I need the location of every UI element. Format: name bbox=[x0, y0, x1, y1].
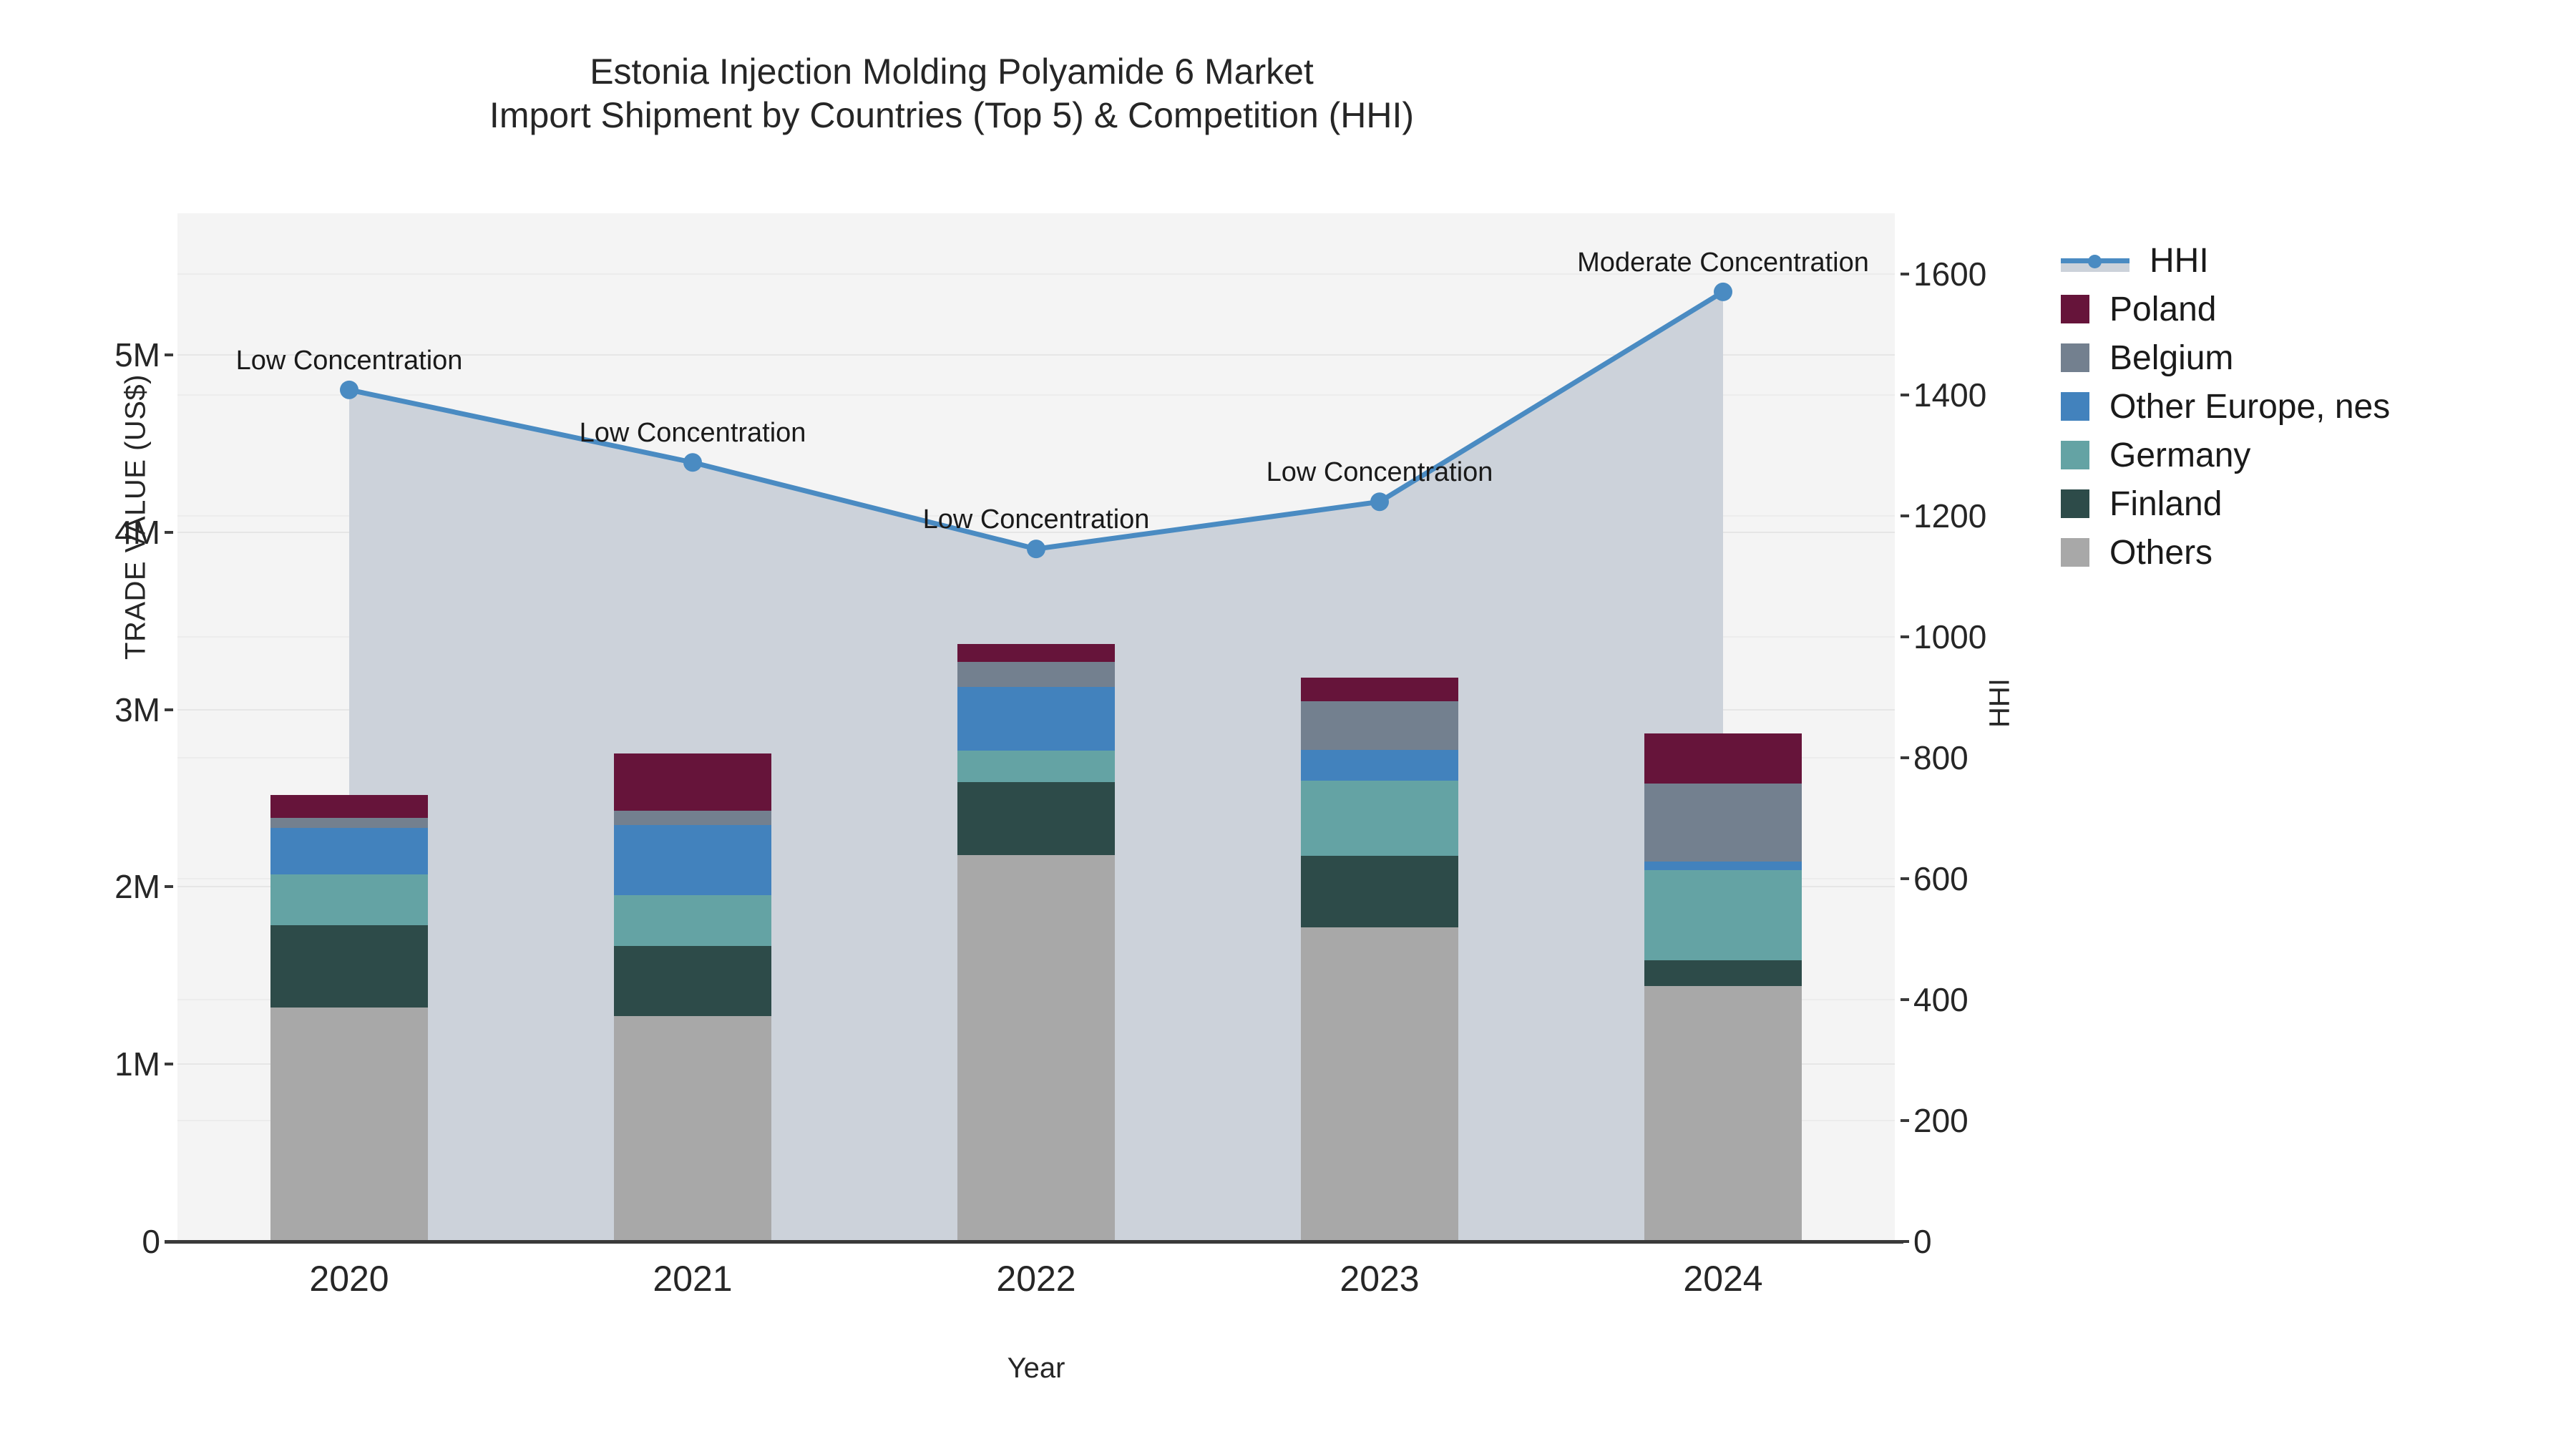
legend-swatch-icon bbox=[2061, 441, 2089, 469]
y-axis-right-tick-label: 1600 bbox=[1913, 255, 1986, 293]
y-axis-right-tick-label: 1400 bbox=[1913, 376, 1986, 414]
y-axis-right-tickmark bbox=[1901, 877, 1909, 880]
y-axis-right-tick-label: 1200 bbox=[1913, 497, 1986, 535]
concentration-annotation: Low Concentration bbox=[236, 346, 463, 376]
chart-title: Estonia Injection Molding Polyamide 6 Ma… bbox=[0, 50, 1903, 137]
y-axis-right-tick-label: 400 bbox=[1913, 980, 1968, 1019]
x-axis-tick-label: 2021 bbox=[653, 1258, 732, 1299]
plot-area: Low ConcentrationLow ConcentrationLow Co… bbox=[177, 213, 1895, 1241]
y-axis-right-label: HHI bbox=[1984, 632, 2016, 775]
hhi-marker[interactable] bbox=[340, 381, 358, 399]
y-axis-right-tickmark bbox=[1901, 1119, 1909, 1122]
legend-item-label: Poland bbox=[2109, 290, 2216, 329]
x-axis-tick-label: 2023 bbox=[1340, 1258, 1419, 1299]
y-axis-right-tickmark bbox=[1901, 635, 1909, 638]
hhi-marker[interactable] bbox=[1714, 283, 1732, 301]
y-axis-left-tickmark bbox=[165, 1063, 173, 1065]
y-axis-right-tick-label: 800 bbox=[1913, 738, 1968, 777]
hhi-marker[interactable] bbox=[1027, 540, 1045, 558]
y-axis-right-tick-label: 1000 bbox=[1913, 618, 1986, 656]
concentration-annotation: Low Concentration bbox=[923, 504, 1150, 535]
legend-item-label: Germany bbox=[2109, 436, 2250, 475]
legend-item-label: HHI bbox=[2150, 241, 2209, 280]
y-axis-left-tick-label: 3M bbox=[114, 691, 160, 729]
y-axis-left-tickmark bbox=[165, 531, 173, 534]
y-axis-left-label: TRADE VALUE (US$) bbox=[120, 374, 152, 660]
legend-swatch-icon bbox=[2061, 343, 2089, 372]
legend-item[interactable]: HHI bbox=[2061, 236, 2390, 285]
y-axis-right-tickmark bbox=[1901, 1240, 1909, 1243]
y-axis-right-tick-label: 200 bbox=[1913, 1101, 1968, 1140]
concentration-annotation: Low Concentration bbox=[580, 418, 806, 449]
legend-item[interactable]: Belgium bbox=[2061, 333, 2390, 382]
legend-swatch-icon bbox=[2061, 392, 2089, 421]
legend-item-label: Finland bbox=[2109, 484, 2222, 524]
concentration-annotation: Moderate Concentration bbox=[1577, 248, 1869, 278]
chart-legend: HHIPolandBelgiumOther Europe, nesGermany… bbox=[2061, 236, 2390, 577]
legend-item[interactable]: Others bbox=[2061, 528, 2390, 577]
hhi-marker[interactable] bbox=[1370, 492, 1389, 511]
legend-swatch-icon bbox=[2061, 295, 2089, 323]
y-axis-left-tickmark bbox=[165, 885, 173, 888]
x-axis-tick-label: 2024 bbox=[1683, 1258, 1762, 1299]
y-axis-right-tickmark bbox=[1901, 998, 1909, 1001]
hhi-marker[interactable] bbox=[683, 453, 702, 472]
x-axis-label: Year bbox=[177, 1352, 1895, 1385]
y-axis-left-tickmark bbox=[165, 1240, 173, 1243]
legend-item[interactable]: Germany bbox=[2061, 431, 2390, 479]
y-axis-right-tickmark bbox=[1901, 756, 1909, 759]
chart-root: Estonia Injection Molding Polyamide 6 Ma… bbox=[0, 0, 2576, 1449]
legend-item[interactable]: Poland bbox=[2061, 285, 2390, 333]
chart-title-line-2: Import Shipment by Countries (Top 5) & C… bbox=[0, 94, 1903, 137]
chart-title-line-1: Estonia Injection Molding Polyamide 6 Ma… bbox=[0, 50, 1903, 94]
y-axis-left-tick-label: 2M bbox=[114, 867, 160, 906]
legend-swatch-icon bbox=[2061, 538, 2089, 567]
y-axis-left-tickmark bbox=[165, 708, 173, 711]
x-axis-tick-label: 2022 bbox=[996, 1258, 1075, 1299]
y-axis-right-tickmark bbox=[1901, 394, 1909, 396]
legend-item-label: Other Europe, nes bbox=[2109, 387, 2390, 426]
y-axis-left-tick-label: 1M bbox=[114, 1045, 160, 1083]
concentration-annotation: Low Concentration bbox=[1267, 457, 1493, 488]
x-axis-tick-label: 2020 bbox=[309, 1258, 389, 1299]
legend-swatch-icon bbox=[2061, 489, 2089, 518]
legend-item-label: Belgium bbox=[2109, 338, 2233, 378]
legend-item[interactable]: Finland bbox=[2061, 479, 2390, 528]
y-axis-left-tick-label: 5M bbox=[114, 336, 160, 374]
legend-item-label: Others bbox=[2109, 533, 2212, 572]
y-axis-right-tickmark bbox=[1901, 514, 1909, 517]
x-axis-line bbox=[165, 1240, 1903, 1244]
y-axis-right-tick-label: 600 bbox=[1913, 859, 1968, 898]
legend-item[interactable]: Other Europe, nes bbox=[2061, 382, 2390, 431]
y-axis-left-tick-label: 0 bbox=[142, 1222, 160, 1261]
legend-line-marker-icon bbox=[2061, 246, 2129, 275]
y-axis-left-tickmark bbox=[165, 353, 173, 356]
y-axis-right-tickmark bbox=[1901, 273, 1909, 275]
y-axis-right-tick-label: 0 bbox=[1913, 1222, 1932, 1261]
